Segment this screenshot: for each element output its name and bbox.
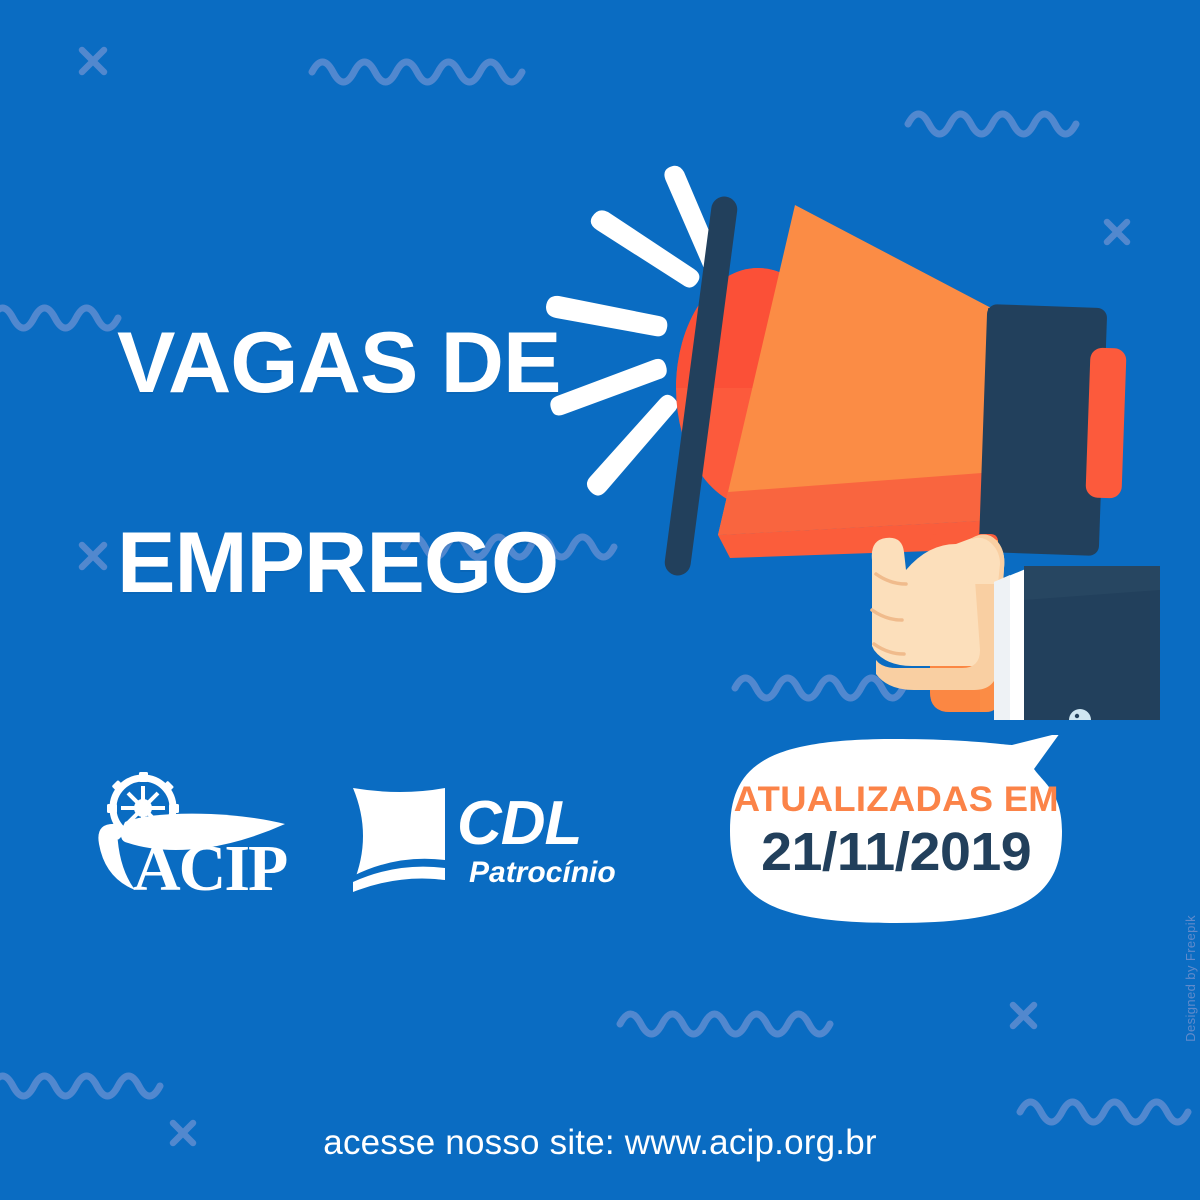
x-mark-5: [1013, 1005, 1034, 1026]
x-mark-1: [82, 50, 104, 72]
cdl-logo[interactable]: CDL Patrocínio: [345, 778, 645, 898]
ray-2: [591, 210, 700, 287]
footer-website[interactable]: acesse nosso site: www.acip.org.br: [0, 1122, 1200, 1164]
bubble-date: 21/11/2019: [761, 822, 1031, 882]
wave-8: [1020, 1102, 1188, 1122]
wave-6: [0, 1076, 160, 1096]
megaphone-illustration: [540, 120, 1160, 720]
cdl-subtitle: Patrocínio: [469, 856, 616, 889]
shirt-cuff-shade: [994, 575, 1010, 720]
wave-3: [0, 308, 118, 328]
cdl-page-icon: [351, 788, 445, 894]
acip-wordmark: ACIP: [133, 832, 287, 900]
poster-canvas: VAGAS DE EMPREGO: [0, 0, 1200, 1200]
page-title: VAGAS DE EMPREGO: [117, 213, 561, 713]
x-mark-3: [82, 545, 104, 567]
bubble-text-block: ATUALIZADAS EM 21/11/2019: [722, 735, 1070, 927]
cdl-wordmark: CDL: [457, 789, 581, 858]
bubble-label: ATUALIZADAS EM: [733, 780, 1058, 820]
headline-line-2: EMPREGO: [117, 513, 561, 613]
wave-1: [312, 62, 522, 82]
wave-7: [620, 1014, 830, 1034]
ray-5: [587, 395, 678, 496]
ray-4: [550, 359, 666, 416]
freepik-credit: Designed by Freepik: [1183, 915, 1198, 1042]
acip-logo[interactable]: ACIP: [95, 770, 325, 900]
status-badge: ATUALIZADAS EM 21/11/2019: [722, 735, 1070, 927]
headline-line-1: VAGAS DE: [117, 313, 561, 413]
megaphone-end-cap: [1085, 347, 1126, 498]
ray-3: [546, 296, 667, 336]
